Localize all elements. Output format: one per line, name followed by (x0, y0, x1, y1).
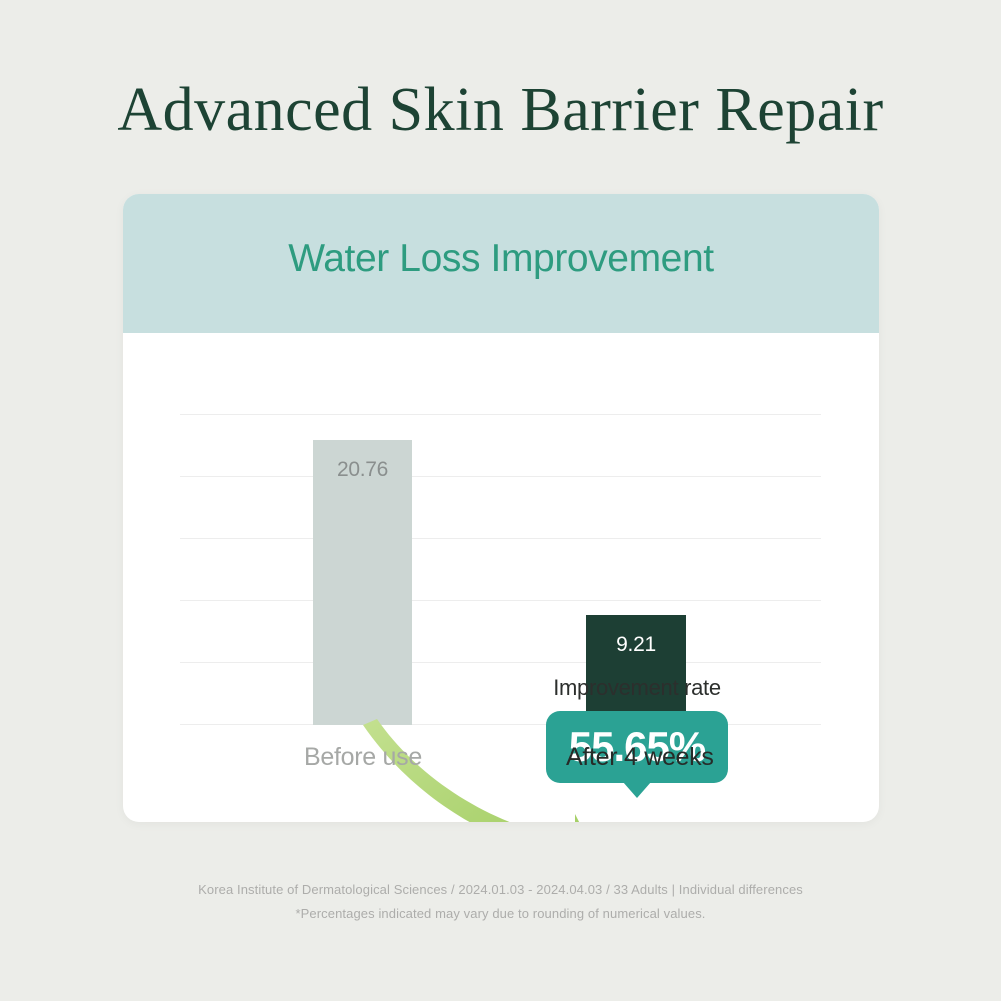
gridline (180, 538, 821, 539)
bar-after-4-weeks: 9.21 (586, 615, 686, 725)
axis-label-after-4-weeks: After 4 weeks (566, 741, 708, 773)
card-header-title: Water Loss Improvement (123, 234, 879, 284)
improvement-rate-label: Improvement rate (527, 674, 747, 702)
gridline (180, 600, 821, 601)
footnote-rounding-note: *Percentages indicated may vary due to r… (0, 902, 1001, 926)
axis-label-before-use: Before use (297, 741, 429, 773)
decline-arrow-icon (123, 333, 879, 822)
gridline (180, 662, 821, 663)
bar-value-before-use: 20.76 (313, 457, 412, 483)
footnote-study-info: Korea Institute of Dermatological Scienc… (0, 878, 1001, 902)
card-header-band: Water Loss Improvement (123, 194, 879, 333)
bar-value-after-4-weeks: 9.21 (586, 632, 686, 658)
gridline (180, 414, 821, 415)
footnotes: Korea Institute of Dermatological Scienc… (0, 878, 1001, 926)
stat-card: Water Loss Improvement 20.76 9.21 (123, 194, 879, 822)
page-title: Advanced Skin Barrier Repair (0, 72, 1001, 148)
gridline (180, 476, 821, 477)
badge-pointer-icon (623, 782, 651, 798)
bar-chart: 20.76 9.21 Improvement rate 55.65% Befor… (123, 333, 879, 822)
bar-before-use: 20.76 (313, 440, 412, 725)
